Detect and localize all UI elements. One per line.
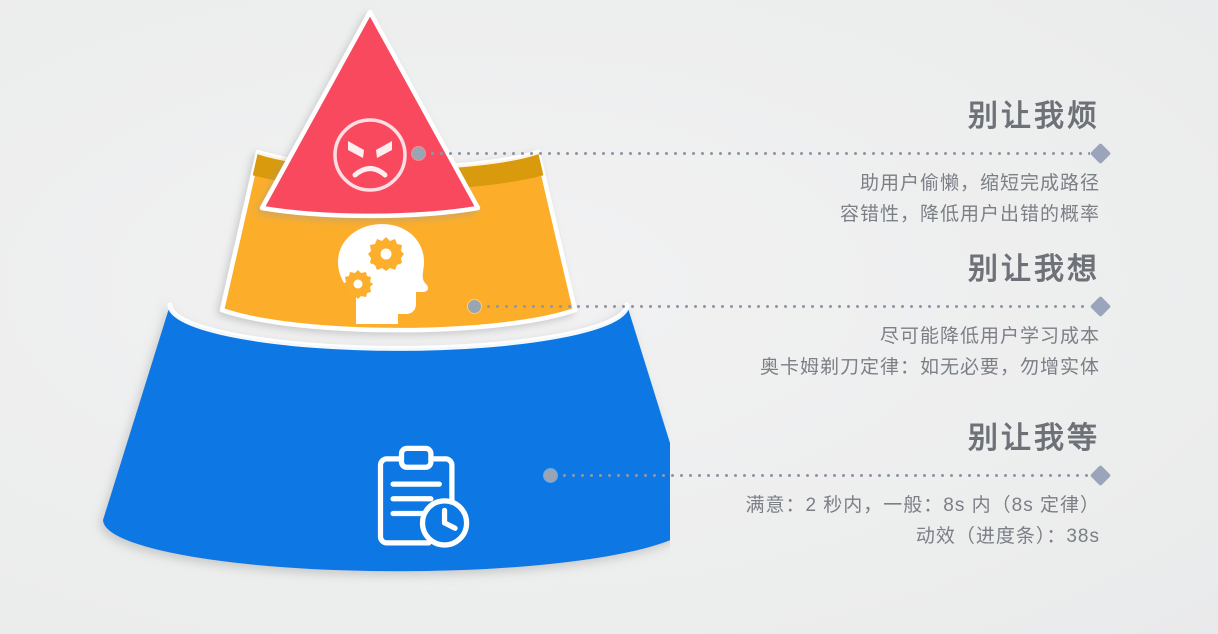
title-rule-spacer xyxy=(630,292,1100,322)
level-base-title: 别让我等 xyxy=(630,422,1100,455)
title-rule-spacer xyxy=(630,139,1100,169)
level-base-line-1: 满意：2 秒内，一般：8s 内（8s 定律） xyxy=(630,491,1100,522)
top-body xyxy=(262,12,478,216)
text-block-level-top: 别让我烦 助用户偷懒，缩短完成路径 容错性，降低用户出错的概率 xyxy=(630,100,1100,231)
level-top-title: 别让我烦 xyxy=(630,100,1100,133)
level-middle-title: 别让我想 xyxy=(630,253,1100,286)
level-top-line-2: 容错性，降低用户出错的概率 xyxy=(630,200,1100,231)
level-top-line-1: 助用户偷懒，缩短完成路径 xyxy=(630,169,1100,200)
pyramid-level-top xyxy=(262,12,478,216)
infographic-canvas: 别让我烦 助用户偷懒，缩短完成路径 容错性，降低用户出错的概率 别让我想 尽可能… xyxy=(0,0,1218,634)
pyramid-diagram xyxy=(70,0,670,634)
level-middle-line-1: 尽可能降低用户学习成本 xyxy=(630,322,1100,353)
text-block-level-middle: 别让我想 尽可能降低用户学习成本 奥卡姆剃刀定律：如无必要，勿增实体 xyxy=(630,253,1100,384)
level-base-line-2: 动效（进度条）：38s xyxy=(630,522,1100,553)
text-block-level-base: 别让我等 满意：2 秒内，一般：8s 内（8s 定律） 动效（进度条）：38s xyxy=(630,422,1100,553)
level-middle-line-2: 奥卡姆剃刀定律：如无必要，勿增实体 xyxy=(630,353,1100,384)
title-rule-spacer xyxy=(630,461,1100,491)
base-body xyxy=(103,305,670,571)
